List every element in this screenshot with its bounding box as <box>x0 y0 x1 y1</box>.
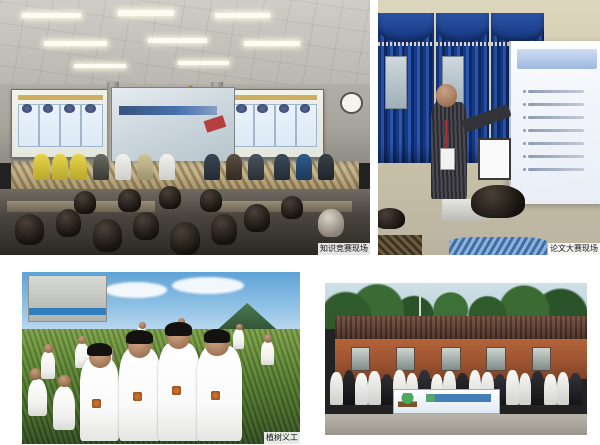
audience-head <box>15 214 45 245</box>
building <box>28 275 108 322</box>
slide-title-band <box>517 49 597 69</box>
slide-item-outline <box>528 90 584 93</box>
screen-heading-bar <box>18 95 103 100</box>
attendee-head <box>378 208 405 229</box>
university-logo-icon <box>22 104 33 113</box>
contestant <box>70 154 86 180</box>
planting-scene: 植树义工 <box>22 272 300 444</box>
cloud <box>105 282 166 297</box>
slide-bullet-icon <box>523 103 526 106</box>
projection-screen-right <box>226 89 324 157</box>
student <box>557 372 570 405</box>
student <box>368 371 381 405</box>
background-volunteer <box>233 329 244 350</box>
audience-head <box>318 209 344 237</box>
contestant <box>296 154 312 180</box>
ceiling-light <box>22 13 81 19</box>
audience-head <box>118 189 140 212</box>
photo-thesis-competition[interactable]: 论文大赛现场 <box>378 0 600 255</box>
university-logo-icon <box>64 104 75 113</box>
ceiling-light <box>215 13 271 19</box>
slide-item-new-method <box>528 116 584 119</box>
event-banner <box>393 389 500 414</box>
contestant <box>52 154 68 180</box>
photo-tree-planting[interactable]: 植树义工 <box>22 272 300 444</box>
student <box>506 370 519 404</box>
backdrop-title-bar <box>119 106 217 115</box>
university-logo-icon <box>43 104 54 113</box>
volunteer-hair-3 <box>165 322 191 336</box>
audience-head <box>281 196 303 219</box>
contestant <box>93 154 109 180</box>
confidence-monitor <box>478 138 511 180</box>
screen-heading-bar <box>232 95 317 100</box>
curtain-valance <box>378 13 434 44</box>
photo-group-school[interactable] <box>325 283 587 435</box>
slide-bullet-icon <box>523 155 526 158</box>
seminar-scene: 知识竞赛现场 <box>0 0 370 255</box>
presenter-scene: 论文大赛现场 <box>378 0 600 255</box>
slide-bullet-icon <box>523 116 526 119</box>
volunteer-hair-2 <box>126 330 152 344</box>
group-scene <box>325 283 587 435</box>
background-volunteer-head <box>78 336 86 345</box>
photo-caption-tree-planting: 植树义工 <box>264 432 300 444</box>
contestant <box>115 154 131 180</box>
student <box>381 374 394 405</box>
student <box>330 372 343 405</box>
seated-attendee-blue <box>449 237 547 255</box>
student <box>519 373 532 405</box>
school-roof <box>335 316 587 340</box>
building-stripe <box>29 308 107 315</box>
audience-head <box>211 214 237 245</box>
student <box>544 374 557 405</box>
contestant <box>248 154 264 180</box>
backdrop-graphic <box>203 116 225 134</box>
lanyard <box>445 120 447 151</box>
attendee-head <box>471 185 524 219</box>
volunteer-hair-1 <box>87 343 112 357</box>
photo-caption-thesis-competition: 论文大赛现场 <box>548 243 600 255</box>
slide-item-application <box>528 142 584 145</box>
audience-head <box>159 186 181 209</box>
name-badge <box>440 148 455 170</box>
background-volunteer-head <box>139 322 146 329</box>
projection-screen-left <box>11 89 109 157</box>
audience-head <box>56 209 82 237</box>
presenter-head <box>436 84 457 107</box>
photo-knowledge-competition-hall[interactable]: 知识竞赛现场 <box>0 0 370 255</box>
ceiling-light <box>44 41 107 46</box>
tshirt-logo-icon <box>211 391 220 400</box>
background-volunteer <box>53 386 75 431</box>
banner-text <box>426 394 491 402</box>
tshirt-logo-icon <box>92 399 101 408</box>
photo-caption-knowledge-competition: 知识竞赛现场 <box>318 243 370 255</box>
student <box>343 370 356 405</box>
background-volunteer <box>261 341 274 365</box>
slide-bullet-icon <box>523 129 526 132</box>
volunteer-hair-4 <box>204 329 230 343</box>
audience-head <box>200 189 222 212</box>
wall-clock-icon <box>340 92 363 114</box>
audience-head <box>244 204 270 232</box>
slide-item-numerical <box>528 129 584 132</box>
student <box>355 373 368 405</box>
student <box>531 371 544 405</box>
contestant <box>318 154 334 180</box>
window <box>385 56 407 109</box>
ceiling-light <box>74 64 126 68</box>
background-volunteer <box>41 351 55 379</box>
background-volunteer-head <box>264 334 272 343</box>
event-backdrop <box>111 87 235 166</box>
slide-item-conclusion <box>528 155 584 158</box>
audience-head <box>93 219 123 252</box>
university-logo-icon <box>85 104 96 113</box>
slide-item-introduction <box>528 103 584 106</box>
student <box>569 373 582 405</box>
tree-logo-icon <box>398 393 417 407</box>
slide-bullet-icon <box>523 90 526 93</box>
contestant <box>204 154 220 180</box>
university-logo-icon <box>236 104 247 113</box>
contestant <box>33 154 49 180</box>
background-volunteer <box>28 379 47 417</box>
ceiling-light <box>118 10 174 16</box>
audience-head <box>170 222 200 255</box>
ceiling-light <box>178 61 230 65</box>
ceiling-light <box>148 38 207 43</box>
audience-head <box>133 212 159 240</box>
university-logo-icon <box>257 104 268 113</box>
background-volunteer-head <box>44 344 52 353</box>
contestant <box>159 154 175 180</box>
tshirt-logo-icon <box>172 386 181 395</box>
slide-item-references <box>528 168 584 171</box>
university-logo-icon <box>300 104 311 113</box>
tshirt-logo-icon <box>133 392 142 401</box>
university-logo-icon <box>279 104 290 113</box>
slide-bullet-icon <box>523 168 526 171</box>
audience-head <box>74 191 96 214</box>
contestant <box>274 154 290 180</box>
background-volunteer-head <box>58 375 71 387</box>
contestant <box>226 154 242 180</box>
ceiling-light <box>244 41 300 46</box>
seated-attendee-batik <box>378 235 422 255</box>
contestant <box>137 154 153 180</box>
photo-collage: 知识竞赛现场 <box>0 0 600 445</box>
slide-bullet-icon <box>523 142 526 145</box>
